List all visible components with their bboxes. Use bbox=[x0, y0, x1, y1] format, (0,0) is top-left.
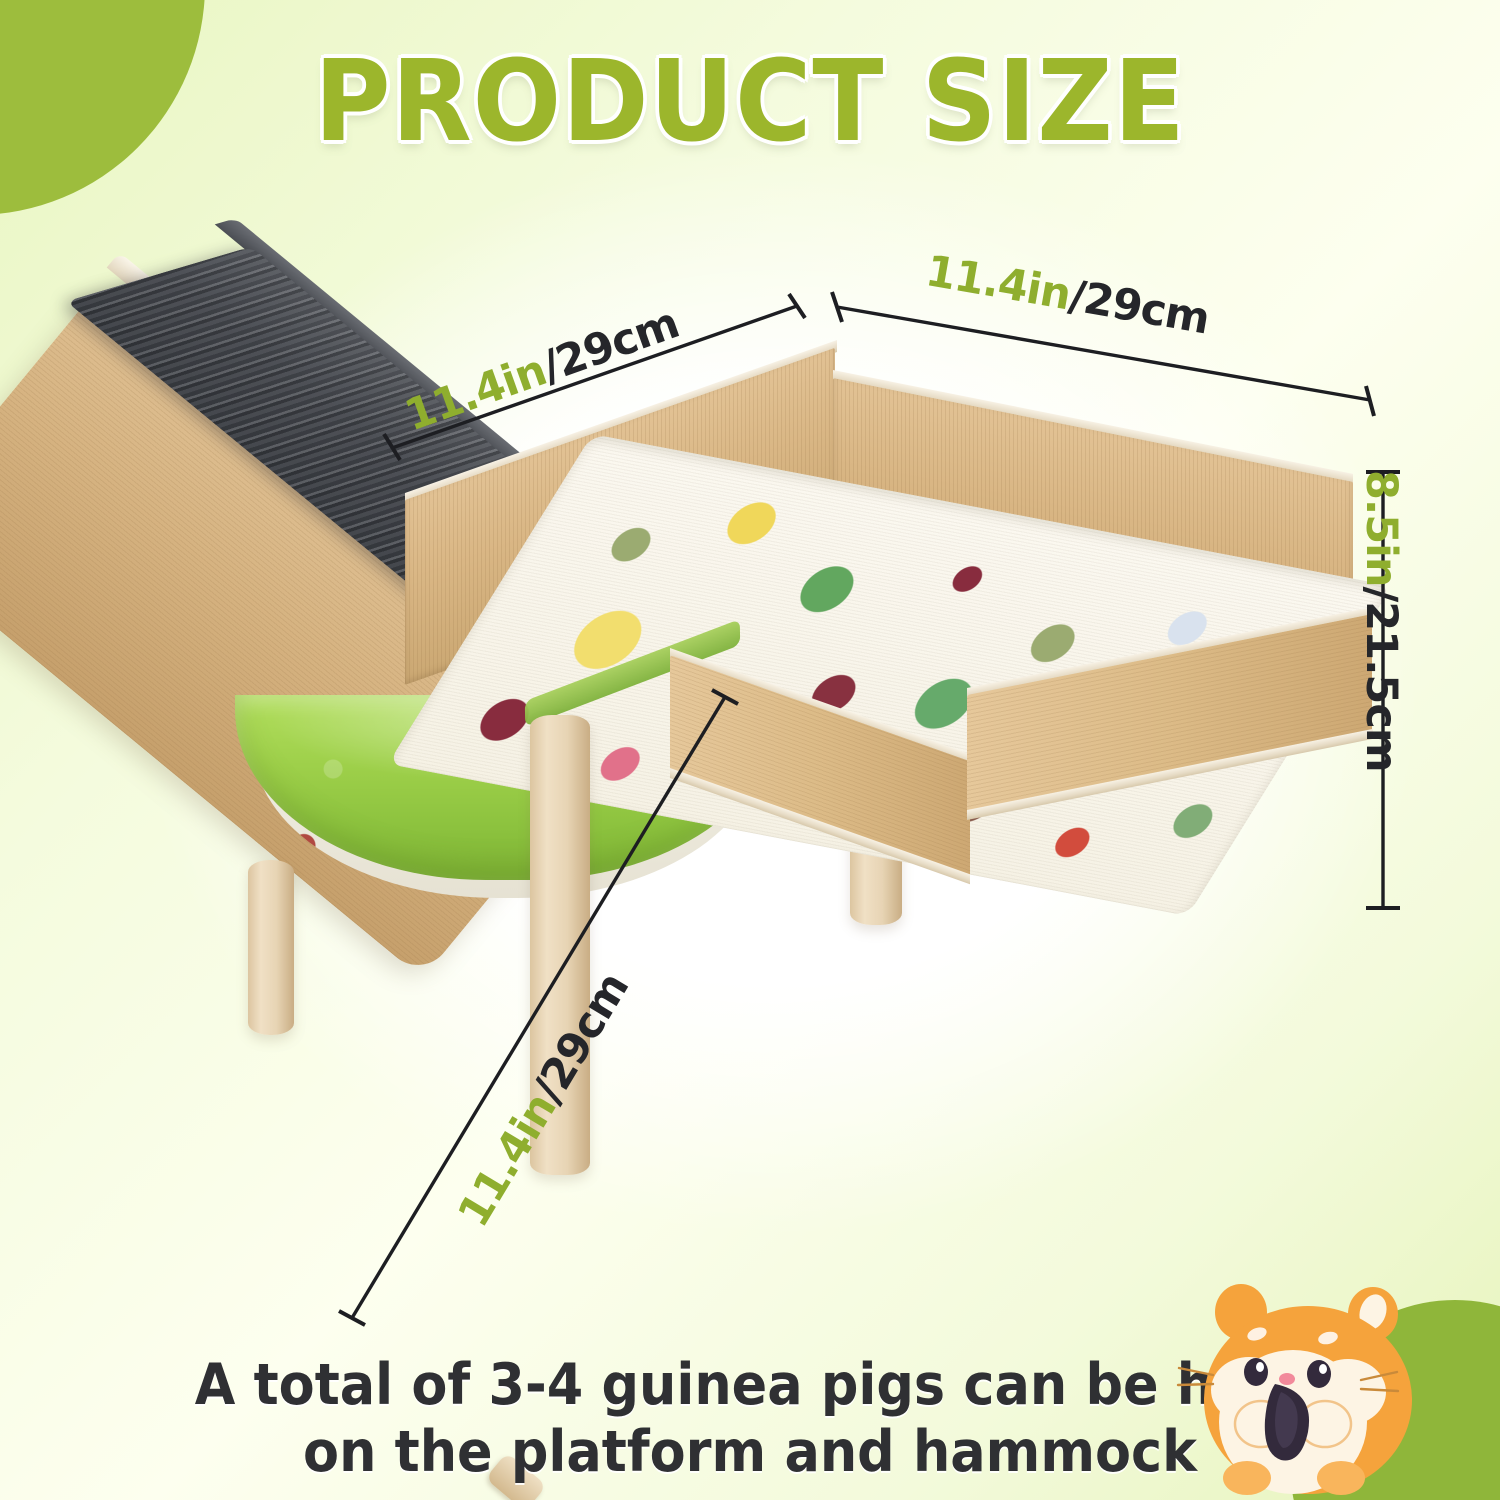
dimension-label-height: 8.5in/21.5cm bbox=[1359, 470, 1402, 772]
dimension-value-cm: /21.5cm bbox=[1356, 587, 1406, 772]
dimension-value-inches: 8.5in bbox=[1356, 470, 1406, 587]
hamster-mascot-icon bbox=[1165, 1272, 1465, 1500]
product-illustration bbox=[0, 300, 1500, 1360]
page-title: PRODUCT SIZE bbox=[53, 46, 1448, 158]
infographic-canvas: PRODUCT SIZE bbox=[0, 0, 1500, 1500]
